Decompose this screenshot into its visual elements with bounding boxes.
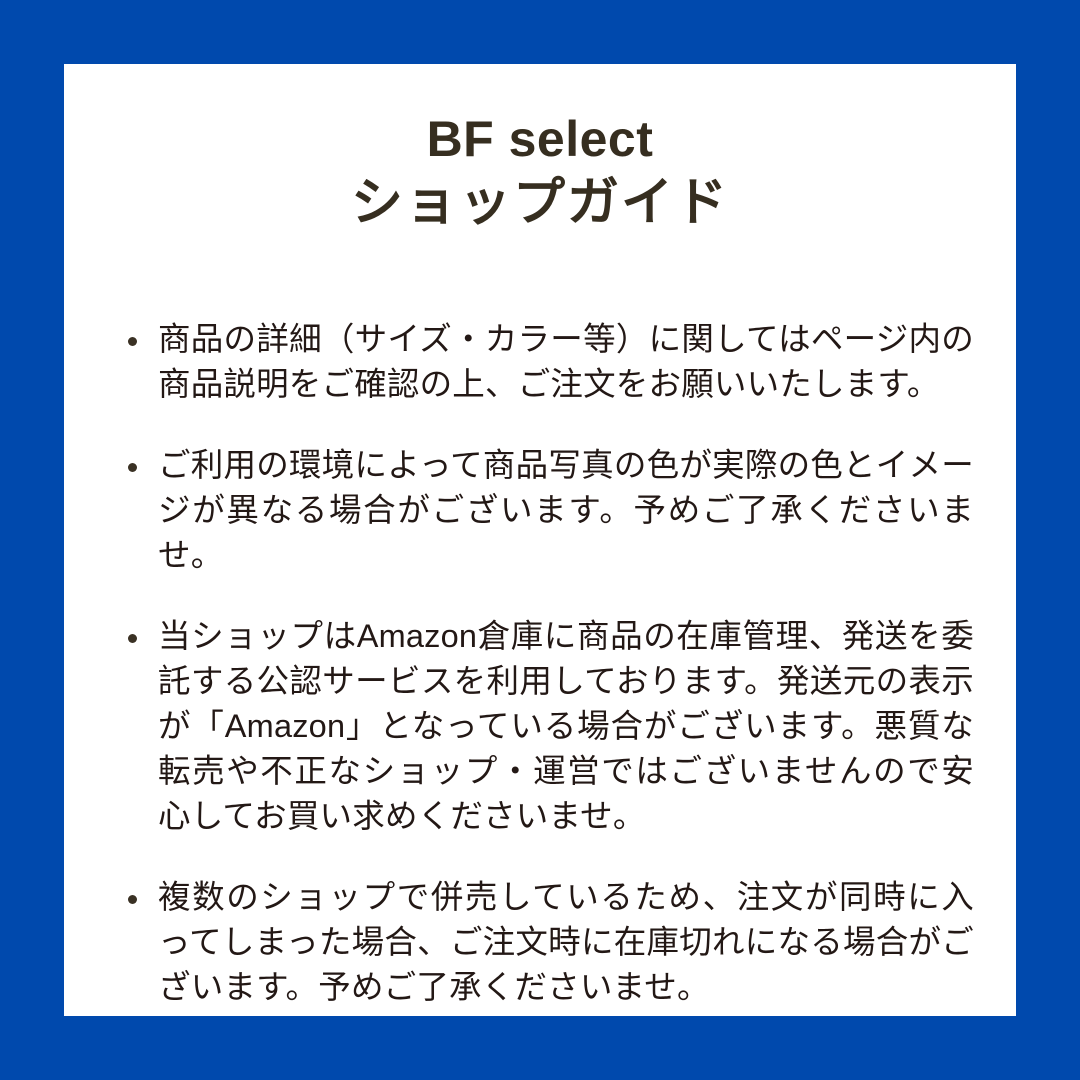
bullet-dot-icon [128,337,137,346]
page-title-line-1: BF select [64,108,1016,170]
page-title-line-2: ショップガイド [64,170,1016,236]
bullet-dot-icon [128,895,137,904]
bullet-dot-icon [128,463,137,472]
list-item: 当ショップはAmazon倉庫に商品の在庫管理、発送を委託する公認サービスを利用し… [114,614,974,839]
list-item: 商品の詳細（サイズ・カラー等）に関してはページ内の商品説明をご確認の上、ご注文を… [114,317,974,407]
bullet-dot-icon [128,634,137,643]
list-item: ご利用の環境によって商品写真の色が実際の色とイメージが異なる場合がございます。予… [114,443,974,578]
list-item-text: 商品の詳細（サイズ・カラー等）に関してはページ内の商品説明をご確認の上、ご注文を… [158,317,974,407]
guide-bullet-list: 商品の詳細（サイズ・カラー等）に関してはページ内の商品説明をご確認の上、ご注文を… [114,317,974,1010]
list-item-text: 複数のショップで併売しているため、注文が同時に入ってしまった場合、ご注文時に在庫… [158,875,974,1010]
list-item-text: 当ショップはAmazon倉庫に商品の在庫管理、発送を委託する公認サービスを利用し… [158,614,974,839]
shop-guide-banner: BF select ショップガイド 商品の詳細（サイズ・カラー等）に関してはペー… [0,0,1080,1080]
list-item-text: ご利用の環境によって商品写真の色が実際の色とイメージが異なる場合がございます。予… [158,443,974,578]
page-title: BF select ショップガイド [64,108,1016,236]
guide-card: BF select ショップガイド 商品の詳細（サイズ・カラー等）に関してはペー… [64,64,1016,1016]
list-item: 複数のショップで併売しているため、注文が同時に入ってしまった場合、ご注文時に在庫… [114,875,974,1010]
